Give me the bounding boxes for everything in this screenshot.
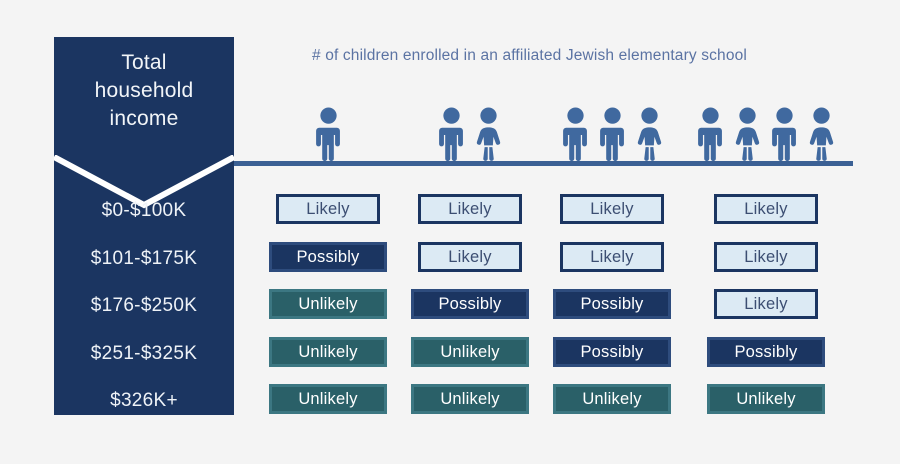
likelihood-badge[interactable]: Unlikely: [411, 384, 529, 414]
likelihood-badge[interactable]: Possibly: [553, 337, 671, 367]
male-figure-icon: [313, 106, 344, 162]
pictogram-group-4: [695, 106, 837, 162]
likelihood-badge[interactable]: Likely: [560, 194, 664, 224]
male-figure-icon: [560, 106, 591, 162]
income-row-label: $251-$325K: [54, 343, 234, 365]
female-figure-icon: [806, 106, 837, 162]
income-row-label: $326K+: [54, 390, 234, 412]
likelihood-badge[interactable]: Likely: [714, 194, 818, 224]
likelihood-badge[interactable]: Unlikely: [269, 384, 387, 414]
income-panel-title: Total household income: [54, 49, 234, 133]
likelihood-badge[interactable]: Unlikely: [553, 384, 671, 414]
pictogram-group-1: [313, 106, 344, 162]
likelihood-badge[interactable]: Possibly: [411, 289, 529, 319]
male-figure-icon: [769, 106, 800, 162]
likelihood-badge[interactable]: Unlikely: [269, 337, 387, 367]
income-panel-title-line-1: Total: [54, 49, 234, 77]
likelihood-badge[interactable]: Likely: [276, 194, 380, 224]
pictogram-group-3: [560, 106, 665, 162]
income-panel-title-line-2: household: [54, 77, 234, 105]
pictogram-group-2: [436, 106, 504, 162]
income-panel: Total household income $0-$100K$101-$175…: [54, 37, 234, 415]
infographic-canvas: Total household income $0-$100K$101-$175…: [0, 0, 900, 464]
male-figure-icon: [436, 106, 467, 162]
likelihood-badge[interactable]: Unlikely: [707, 384, 825, 414]
male-figure-icon: [597, 106, 628, 162]
likelihood-badge[interactable]: Likely: [714, 289, 818, 319]
likelihood-badge[interactable]: Possibly: [707, 337, 825, 367]
income-row-label: $0-$100K: [54, 200, 234, 222]
likelihood-badge[interactable]: Likely: [418, 194, 522, 224]
female-figure-icon: [634, 106, 665, 162]
female-figure-icon: [473, 106, 504, 162]
female-figure-icon: [732, 106, 763, 162]
likelihood-badge[interactable]: Possibly: [269, 242, 387, 272]
likelihood-badge[interactable]: Likely: [560, 242, 664, 272]
male-figure-icon: [695, 106, 726, 162]
income-row-label: $101-$175K: [54, 248, 234, 270]
likelihood-badge[interactable]: Possibly: [553, 289, 671, 319]
likelihood-badge[interactable]: Unlikely: [269, 289, 387, 319]
likelihood-badge[interactable]: Likely: [418, 242, 522, 272]
likelihood-badge[interactable]: Likely: [714, 242, 818, 272]
income-panel-title-line-3: income: [54, 105, 234, 133]
income-row-label: $176-$250K: [54, 295, 234, 317]
likelihood-badge[interactable]: Unlikely: [411, 337, 529, 367]
matrix-title: # of children enrolled in an affiliated …: [312, 47, 747, 65]
